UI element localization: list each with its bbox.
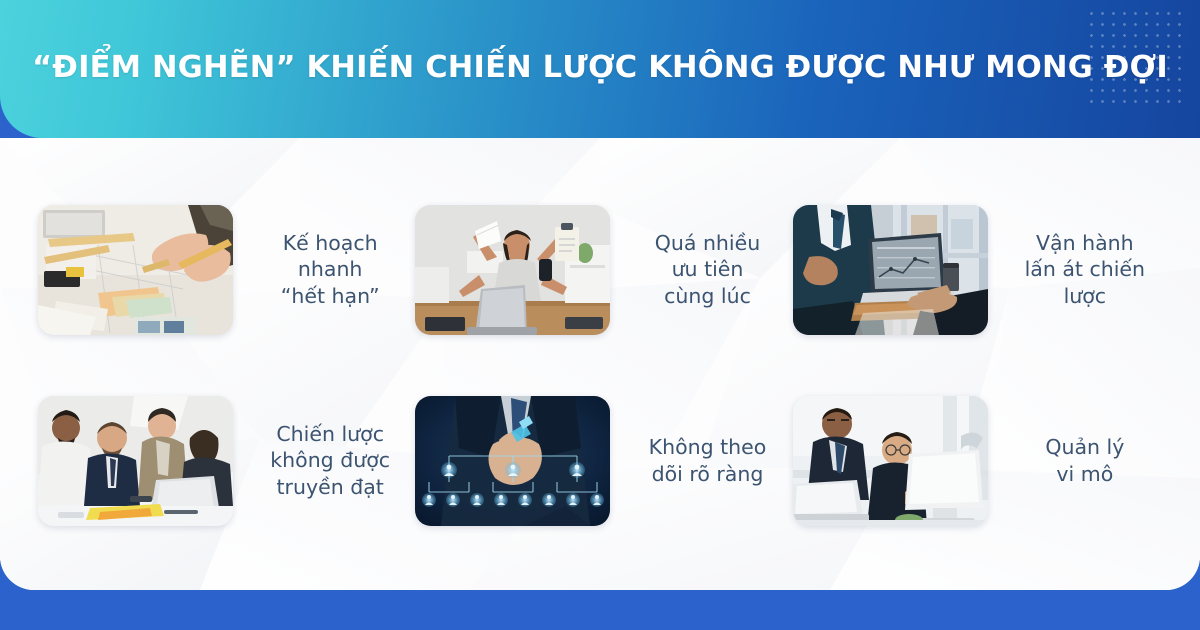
item-van-hanh-lan-at-chien-luoc[interactable]: Vận hành lấn át chiến lược (793, 174, 1170, 365)
items-grid: Kế hoạch nhanh “hết hạn” (0, 138, 1200, 590)
item-caption: Quá nhiều ưu tiên cùng lúc (624, 230, 792, 309)
item-chien-luoc-khong-duoc-truyen-dat[interactable]: Chiến lược không được truyền đạt (38, 365, 415, 556)
header-bar: “ĐIỂM NGHẼN” KHIẾN CHIẾN LƯỢC KHÔNG ĐƯỢC… (0, 0, 1200, 138)
content-panel: Kế hoạch nhanh “hết hạn” (0, 138, 1200, 590)
micromanagement-photo (793, 396, 988, 526)
item-caption: Không theo dõi rõ ràng (624, 434, 792, 486)
item-quan-ly-vi-mo[interactable]: Quản lý vi mô (793, 365, 1170, 556)
item-khong-theo-doi-ro-rang[interactable]: Không theo dõi rõ ràng (415, 365, 792, 556)
item-caption: Quản lý vi mô (1002, 434, 1170, 486)
blueprint-planning-photo (38, 205, 233, 335)
infographic-poster: “ĐIỂM NGHẼN” KHIẾN CHIẾN LƯỢC KHÔNG ĐƯỢC… (0, 0, 1200, 630)
item-qua-nhieu-uu-tien-cung-luc[interactable]: Quá nhiều ưu tiên cùng lúc (415, 174, 792, 365)
item-ke-hoach-nhanh-het-han[interactable]: Kế hoạch nhanh “hết hạn” (38, 174, 415, 365)
org-chart-hierarchy-photo (415, 396, 610, 526)
businessmen-laptop-photo (793, 205, 988, 335)
multitasking-woman-photo (415, 205, 610, 335)
page-title: “ĐIỂM NGHẼN” KHIẾN CHIẾN LƯỢC KHÔNG ĐƯỢC… (0, 50, 1200, 85)
item-caption: Chiến lược không được truyền đạt (247, 421, 415, 500)
item-caption: Vận hành lấn át chiến lược (1002, 230, 1170, 309)
item-caption: Kế hoạch nhanh “hết hạn” (247, 230, 415, 309)
team-meeting-photo (38, 396, 233, 526)
